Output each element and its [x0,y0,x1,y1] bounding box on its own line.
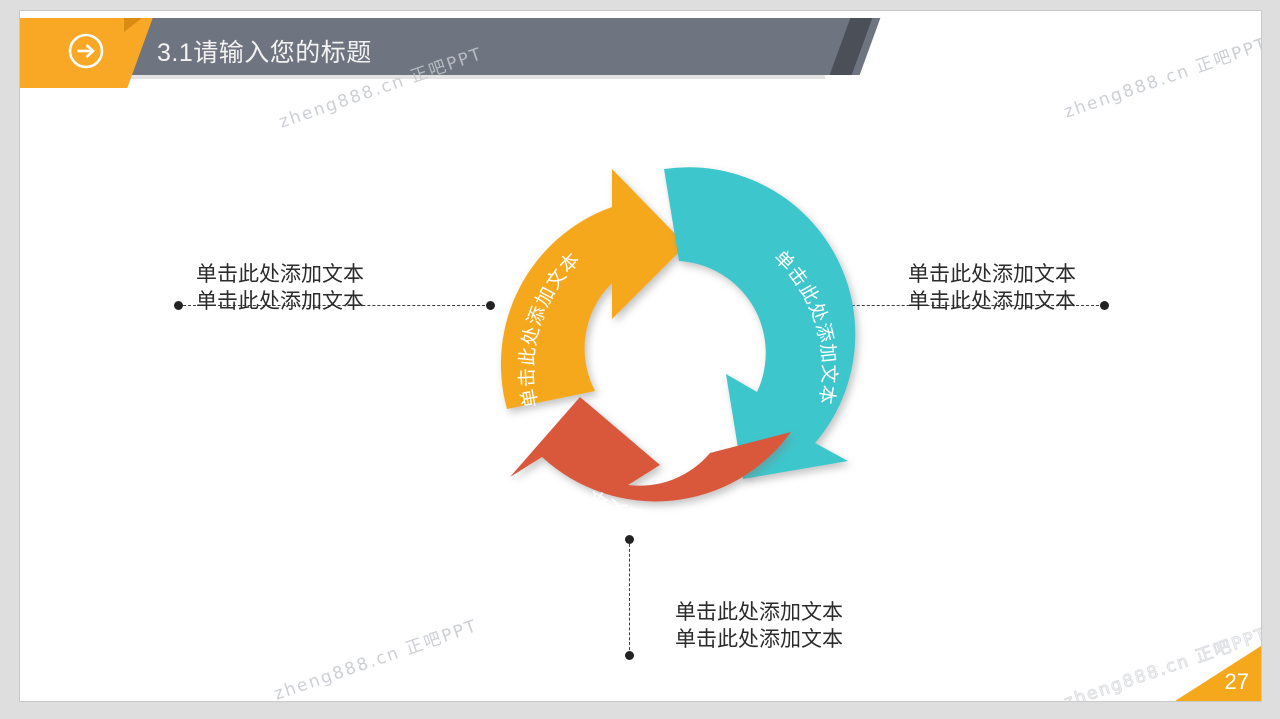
watermark-bottom-left: zheng888.cn 正吧PPT [270,611,480,702]
callout-right: 单击此处添加文本 单击此处添加文本 [908,261,1076,315]
page-title: 3.1请输入您的标题 [157,33,372,69]
callout-bottom-line-2: 单击此处添加文本 [675,626,843,653]
callout-bottom-line-1: 单击此处添加文本 [675,599,843,626]
page-number: 27 [1225,669,1249,695]
header-bar-shadow [105,75,825,79]
header-orange-fold [124,18,142,32]
callout-left-line-2: 单击此处添加文本 [196,288,364,315]
callout-bottom: 单击此处添加文本 单击此处添加文本 [675,599,843,653]
connector-dot-right-outer [1100,301,1109,310]
callout-left: 单击此处添加文本 单击此处添加文本 [196,261,364,315]
connector-dot-bottom-outer [625,651,634,660]
callout-right-line-2: 单击此处添加文本 [908,288,1076,315]
connector-dot-left-outer [174,301,183,310]
page-number-corner: 27 [1175,646,1261,701]
callout-left-line-1: 单击此处添加文本 [196,261,364,288]
cycle-diagram: 单击此处添加文本 单击此处添加文本 单击此处添加文本 [460,161,880,581]
callout-right-line-1: 单击此处添加文本 [908,261,1076,288]
arrow-right-circle-icon [67,32,105,70]
slide-header: 3.1请输入您的标题 [20,11,1261,101]
slide-canvas: 3.1请输入您的标题 [19,10,1262,702]
